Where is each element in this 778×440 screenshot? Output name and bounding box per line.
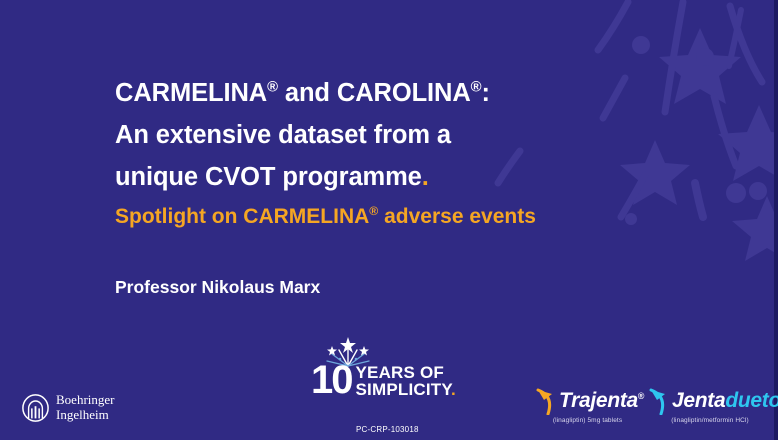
simplicity-word-simplicity: SIMPLICITY. [356, 381, 456, 398]
ten-years-of-simplicity-logo: 10 YEARS OF SIMPLICITY. [311, 340, 466, 402]
simplicity-word-text: SIMPLICITY [356, 380, 452, 399]
decor-streak [598, 2, 628, 50]
trajenta-product-logo: Trajenta® (linagliptin) 5mg tablets [535, 386, 640, 424]
bi-wordmark-line-2: Ingelheim [56, 408, 114, 423]
trajenta-lockup: Trajenta® [535, 386, 640, 416]
slide-subtitle: Spotlight on CARMELINA® adverse events [115, 200, 635, 234]
decor-circle [749, 182, 767, 200]
decor-star [659, 28, 741, 104]
boehringer-ingelheim-wordmark: Boehringer Ingelheim [56, 393, 114, 422]
registered-mark: ® [267, 80, 278, 96]
document-code: PC-CRP-103018 [356, 425, 419, 434]
decor-circle [632, 36, 650, 54]
simplicity-words: YEARS OF SIMPLICITY. [356, 362, 456, 398]
decor-streak [714, 96, 736, 166]
right-edge-strip [774, 0, 778, 440]
simplicity-lockup: 10 YEARS OF SIMPLICITY. [311, 362, 456, 398]
jentadueto-product-logo: Jentadueto® (linagliptin/metformin HCl) [648, 386, 772, 424]
boehringer-ingelheim-logo: Boehringer Ingelheim [22, 393, 114, 422]
subtitle-part-b: adverse events [378, 205, 536, 228]
title-line-2: An extensive dataset from a [115, 114, 635, 156]
decor-streak [665, 2, 683, 112]
presentation-slide: CARMELINA® and CAROLINA®: An extensive d… [0, 0, 778, 440]
registered-mark: ® [369, 204, 378, 218]
simplicity-accent-period: . [451, 380, 456, 399]
simplicity-number: 10 [311, 362, 352, 398]
decor-circle [726, 183, 746, 203]
jentadueto-name-part-white: Jenta [672, 389, 725, 412]
decor-circle [696, 48, 714, 66]
bi-wordmark-line-1: Boehringer [56, 393, 114, 408]
registered-mark: ® [638, 391, 644, 401]
subtitle-part-a: Spotlight on CARMELINA [115, 205, 369, 228]
trajenta-subtitle: (linagliptin) 5mg tablets [535, 417, 640, 424]
decor-streak [695, 183, 703, 217]
decor-streak [730, 6, 762, 82]
presenter-name: Professor Nikolaus Marx [115, 277, 320, 298]
decor-star [732, 196, 778, 261]
jentadueto-name-part-colored: dueto [725, 389, 778, 412]
title-accent-period: . [422, 163, 429, 191]
title-line-1-part-a: CARMELINA [115, 79, 267, 107]
jentadueto-swoosh-icon [648, 387, 671, 415]
title-line-3-text: unique CVOT programme [115, 163, 422, 191]
jentadueto-subtitle: (linagliptin/metformin HCl) [648, 417, 772, 424]
jentadueto-name: Jentadueto® [672, 390, 778, 412]
decor-star [718, 105, 778, 181]
title-block: CARMELINA® and CAROLINA®: An extensive d… [115, 72, 635, 234]
trajenta-name-text: Trajenta [559, 389, 638, 412]
title-line-1: CARMELINA® and CAROLINA®: [115, 72, 635, 114]
trajenta-swoosh-icon [535, 387, 558, 415]
registered-mark: ® [471, 80, 482, 96]
title-line-3: unique CVOT programme. [115, 156, 635, 198]
jentadueto-lockup: Jentadueto® [648, 386, 772, 416]
trajenta-name: Trajenta® [559, 390, 644, 412]
decor-streak [729, 10, 741, 66]
boehringer-ingelheim-arch-icon [22, 394, 49, 422]
title-line-1-part-c: : [481, 79, 489, 107]
simplicity-word-years-of: YEARS OF [356, 364, 456, 381]
title-line-1-part-b: and CAROLINA [278, 79, 471, 107]
